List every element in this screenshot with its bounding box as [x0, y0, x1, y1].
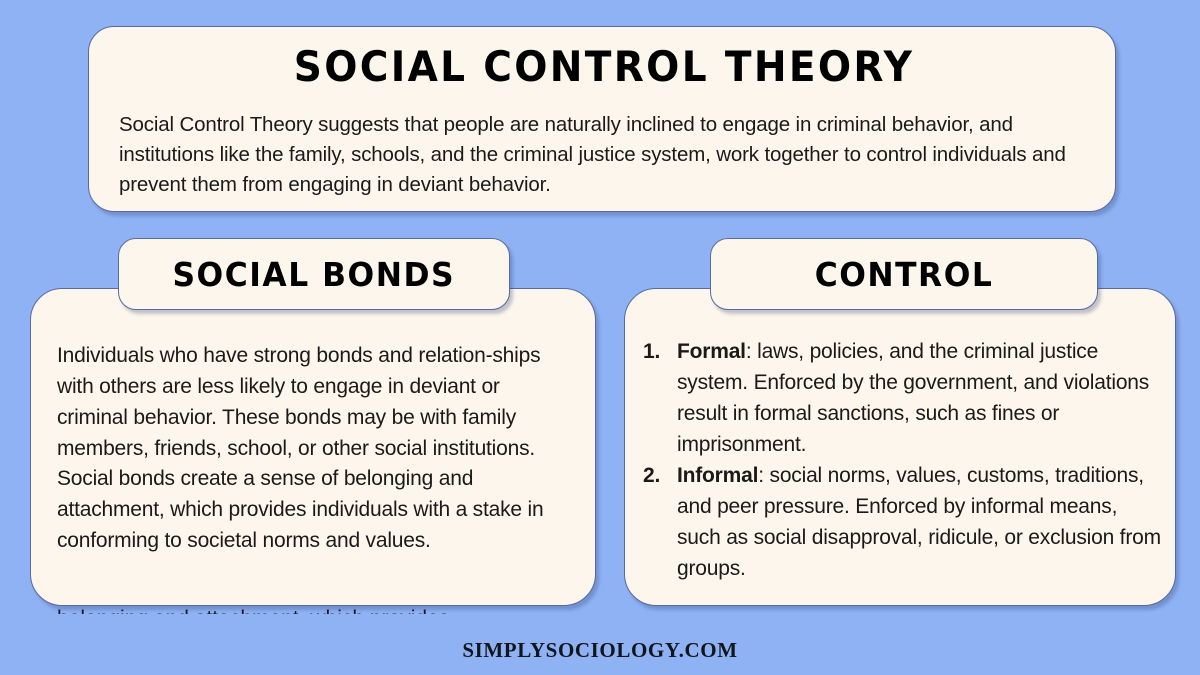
list-item: Informal: social norms, values, customs,… [639, 461, 1165, 584]
control-item-label: Formal [677, 340, 746, 363]
control-header: CONTROL [710, 238, 1098, 310]
social-bonds-header-label: SOCIAL BONDS [173, 255, 456, 294]
footer-attribution: SIMPLYSOCIOLOGY.COM [0, 638, 1200, 663]
intro-card: SOCIAL CONTROL THEORY Social Control The… [88, 26, 1116, 212]
control-card: Formal: laws, policies, and the criminal… [624, 288, 1176, 606]
social-bonds-header: SOCIAL BONDS [118, 238, 510, 310]
intro-paragraph: Social Control Theory suggests that peop… [119, 110, 1089, 201]
control-item-text: : laws, policies, and the criminal justi… [677, 340, 1149, 456]
control-header-label: CONTROL [815, 255, 994, 294]
page-title: SOCIAL CONTROL THEORY [153, 45, 1055, 89]
control-text: Formal: laws, policies, and the criminal… [639, 337, 1165, 586]
social-bonds-text: Individuals who have strong bonds and re… [57, 341, 575, 557]
list-item: Formal: laws, policies, and the criminal… [639, 337, 1165, 460]
social-bonds-clipped-text: belonging and attachment, which provides [57, 604, 449, 614]
social-bonds-card: Individuals who have strong bonds and re… [30, 288, 596, 606]
control-item-label: Informal [677, 464, 758, 487]
control-list: Formal: laws, policies, and the criminal… [639, 337, 1165, 585]
